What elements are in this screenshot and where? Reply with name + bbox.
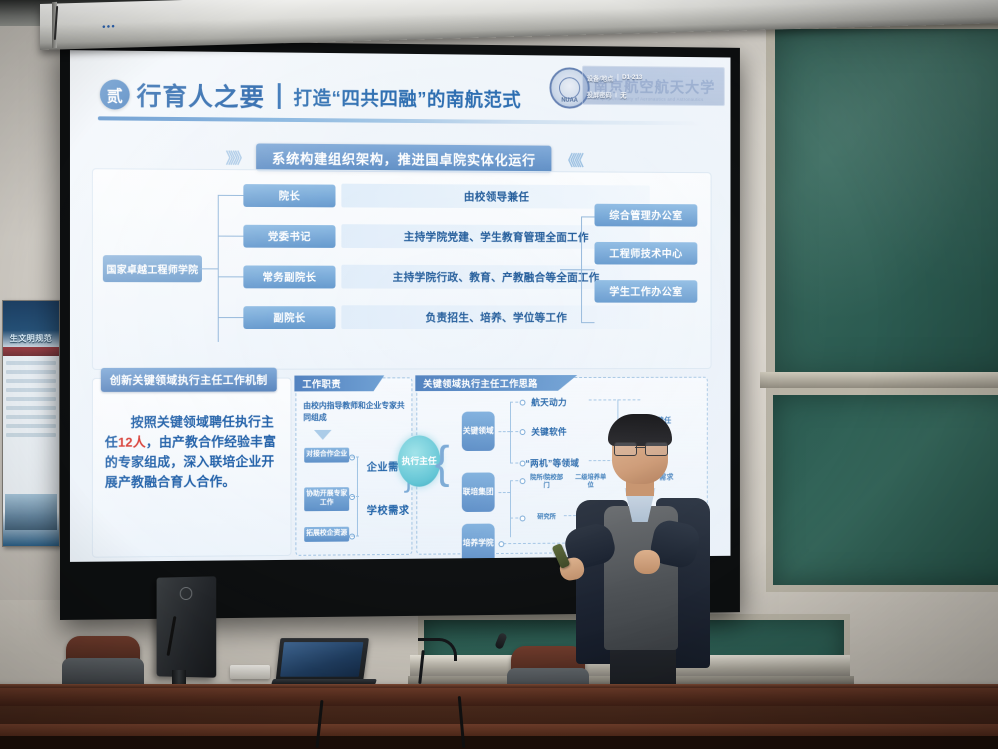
org-role-row: 党委书记 主持学院党建、学生教育管理全面工作 xyxy=(243,223,649,250)
org-role-title: 常务副院长 xyxy=(243,265,335,288)
node-dot xyxy=(520,400,526,406)
title-underline xyxy=(98,116,704,125)
connector xyxy=(218,195,219,342)
slide-title-row: 贰 行育人之要 打造“四共四融”的南航范式 xyxy=(100,76,521,116)
laptop-screen xyxy=(280,642,363,677)
chevrons-left-icon: 》》》 xyxy=(226,147,247,168)
node-dot xyxy=(520,478,526,484)
brace-icon: { xyxy=(435,435,450,488)
lens-right xyxy=(645,442,668,456)
device-info-overlay: 设备/地点 D1-213 投屏密码 无 xyxy=(582,66,725,106)
node-dot xyxy=(520,515,526,521)
housing-brand-label: ●●● xyxy=(102,24,116,31)
org-role-row: 副院长 负责招生、培养、学位等工作 xyxy=(243,304,649,330)
title-separator xyxy=(278,83,281,109)
glasses-bridge xyxy=(635,447,645,448)
connector xyxy=(581,322,594,323)
connector xyxy=(581,216,594,217)
divider xyxy=(617,74,618,81)
hand-right xyxy=(634,550,660,574)
approach-node: 联培集团 xyxy=(462,472,495,512)
duty-item: 协助开展专家工作 xyxy=(304,487,349,511)
org-chart-card: 国家卓越工程师学院 院长 由校领导兼任 党委书记 主持学院党建、学生教育管理全面… xyxy=(92,168,712,370)
divider xyxy=(616,90,617,97)
connector xyxy=(498,431,510,432)
org-departments: 综合管理办公室 工程师技术中心 学生工作办公室 xyxy=(594,204,697,303)
org-department: 工程师技术中心 xyxy=(594,242,697,265)
connector xyxy=(218,317,244,318)
connector xyxy=(218,236,244,237)
podium-device-box xyxy=(230,665,270,679)
cast-password-row: 投屏密码 无 xyxy=(587,89,720,100)
duty-panel: 工作职责 由校内指导教师和企业专家共同组成 对接合作企业 协助开展专家工作 拓展… xyxy=(295,377,412,556)
poster-title: 生文明规范 xyxy=(3,333,59,344)
connector xyxy=(581,269,594,270)
node-dot xyxy=(520,429,526,435)
monitor-brand-icon xyxy=(180,587,192,600)
duty-panel-note: 由校内指导教师和企业专家共同组成 xyxy=(303,400,405,424)
approach-node: 关键领域 xyxy=(462,412,495,451)
lens-left xyxy=(614,442,637,456)
slide-subtitle: 打造“四共四融”的南航范式 xyxy=(293,83,521,112)
chevrons-right-icon: 《《《 xyxy=(561,149,581,170)
node-dot xyxy=(498,541,504,547)
lecture-hall-photo: 生文明规范 贰 行育人之要 打造“四共四融”的南航范式 xyxy=(0,0,998,749)
device-location-row: 设备/地点 D1-213 xyxy=(587,72,720,83)
laptop xyxy=(276,638,369,682)
org-role-title: 党委书记 xyxy=(243,224,335,247)
lectern-shadow xyxy=(0,736,998,749)
mechanism-header: 创新关键领域执行主任工作机制 xyxy=(101,368,277,392)
connector xyxy=(351,456,359,457)
duty-panel-header: 工作职责 xyxy=(294,375,384,391)
slide-title: 行育人之要 xyxy=(137,77,265,114)
mechanism-card: 创新关键领域执行主任工作机制 按照关键领域聘任执行主任12人，由产教合作经验丰富… xyxy=(92,378,292,558)
seal-text: NUAA xyxy=(561,98,578,104)
org-role-row: 院长 由校领导兼任 xyxy=(243,182,649,210)
connector xyxy=(498,492,510,493)
need-school: 学校需求 xyxy=(367,505,410,518)
glasses-icon xyxy=(614,442,666,454)
org-department: 综合管理办公室 xyxy=(594,204,697,227)
connector xyxy=(200,268,218,269)
connector xyxy=(510,480,511,537)
down-arrow-icon xyxy=(314,430,332,440)
cast-password-label: 投屏密码 xyxy=(587,89,612,99)
device-location-value: D1-213 xyxy=(622,74,642,81)
approach-node: 培养学院 xyxy=(462,524,495,562)
org-role-duty: 负责招生、培养、学位等工作 xyxy=(341,305,649,329)
connector xyxy=(560,269,581,270)
desktop-monitor xyxy=(157,576,217,677)
cast-password-value: 无 xyxy=(620,89,626,99)
duty-item: 拓展校企资源 xyxy=(304,527,349,542)
presenter xyxy=(560,418,720,718)
approach-panel-header: 关键领域执行主任工作思路 xyxy=(415,375,577,391)
connector xyxy=(589,399,641,400)
org-role-row: 常务副院长 主持学院行政、教育、产教融合等全面工作 xyxy=(243,263,649,289)
org-department: 学生工作办公室 xyxy=(594,280,697,303)
connector xyxy=(218,195,244,196)
poster-photo xyxy=(5,494,57,530)
mechanism-highlight: 12人 xyxy=(118,435,146,450)
org-role-title: 院长 xyxy=(243,184,335,207)
connector xyxy=(351,496,359,497)
mechanism-body: 按照关键领域聘任执行主任12人，由产教合作经验丰富的专家组成，深入联培企业开展产… xyxy=(105,412,281,493)
connector xyxy=(218,276,244,277)
chalk-rail-right xyxy=(760,372,998,388)
chalkboard-right-upper xyxy=(766,22,998,388)
chalkboard-right-lower xyxy=(766,388,998,592)
duty-item: 对接合作企业 xyxy=(304,448,349,463)
section-number-badge: 贰 xyxy=(100,79,130,109)
poster-band xyxy=(3,347,59,356)
device-location-label: 设备/地点 xyxy=(587,72,614,82)
org-root-node: 国家卓越工程师学院 xyxy=(103,255,202,282)
wall-poster: 生文明规范 xyxy=(2,300,60,547)
poster-text-lines xyxy=(6,361,56,442)
org-role-title: 副院长 xyxy=(243,306,335,329)
connector xyxy=(351,536,359,537)
approach-child: 航天动力 xyxy=(531,396,567,409)
